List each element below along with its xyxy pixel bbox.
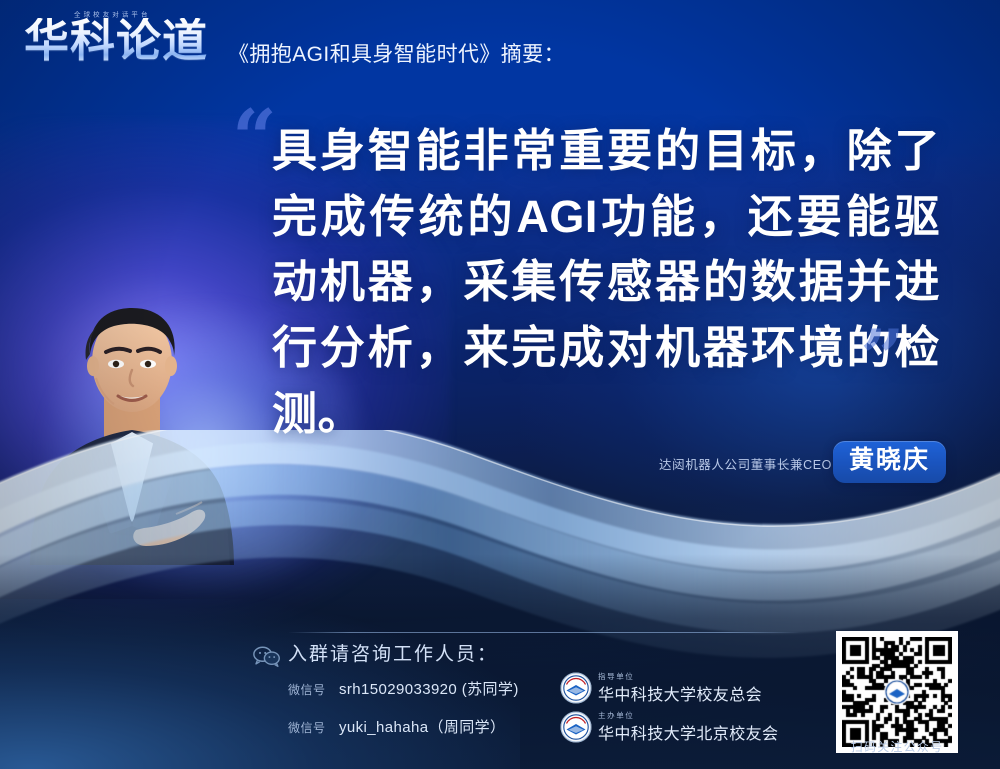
quote-text: 具身智能非常重要的目标，除了完成传统的AGI功能，还要能驱动机器，采集传感器的数… (272, 118, 940, 446)
speaker-role: 达闼机器人公司董事长兼CEO (659, 454, 832, 473)
contact-row[interactable]: 微信号 yuki_hahaha（周同学） (288, 716, 505, 736)
contact-title: 入群请咨询工作人员： (288, 639, 498, 666)
wechat-id: yuki_hahaha（周同学） (339, 719, 505, 736)
organization-name: 华中科技大学校友总会 (598, 681, 762, 705)
speaker-attribution: 达闼机器人公司董事长兼CEO 黄晓庆 (600, 445, 940, 485)
page-title: 《拥抱AGI和具身智能时代》摘要： (228, 38, 565, 68)
brand-logo-text: 华科论道 (24, 18, 208, 63)
university-seal-icon (560, 711, 592, 743)
footer-divider (288, 632, 800, 633)
contact-row[interactable]: 微信号 srh15029033920 (苏同学) (288, 678, 519, 698)
quote-close-mark: ” (860, 320, 901, 398)
university-seal-icon (560, 672, 592, 704)
poster-header: 全球校友对话平台 华科论道 《拥抱AGI和具身智能时代》摘要： (0, 0, 1000, 102)
wechat-label: 微信号 (288, 683, 326, 697)
speaker-name-badge: 黄晓庆 (833, 441, 946, 483)
poster-canvas: 全球校友对话平台 华科论道 《拥抱AGI和具身智能时代》摘要： “ 具身智能非常… (0, 0, 1000, 769)
qr-code[interactable] (836, 631, 958, 753)
quote-open-mark: “ (232, 100, 273, 178)
brand-logo[interactable]: 全球校友对话平台 华科论道 (24, 9, 220, 75)
wechat-icon (253, 645, 281, 667)
qr-caption: 扫码关注公众号 (836, 738, 958, 755)
organization-name: 华中科技大学北京校友会 (598, 720, 778, 744)
wechat-label: 微信号 (288, 721, 326, 735)
wechat-id: srh15029033920 (苏同学) (339, 681, 519, 698)
